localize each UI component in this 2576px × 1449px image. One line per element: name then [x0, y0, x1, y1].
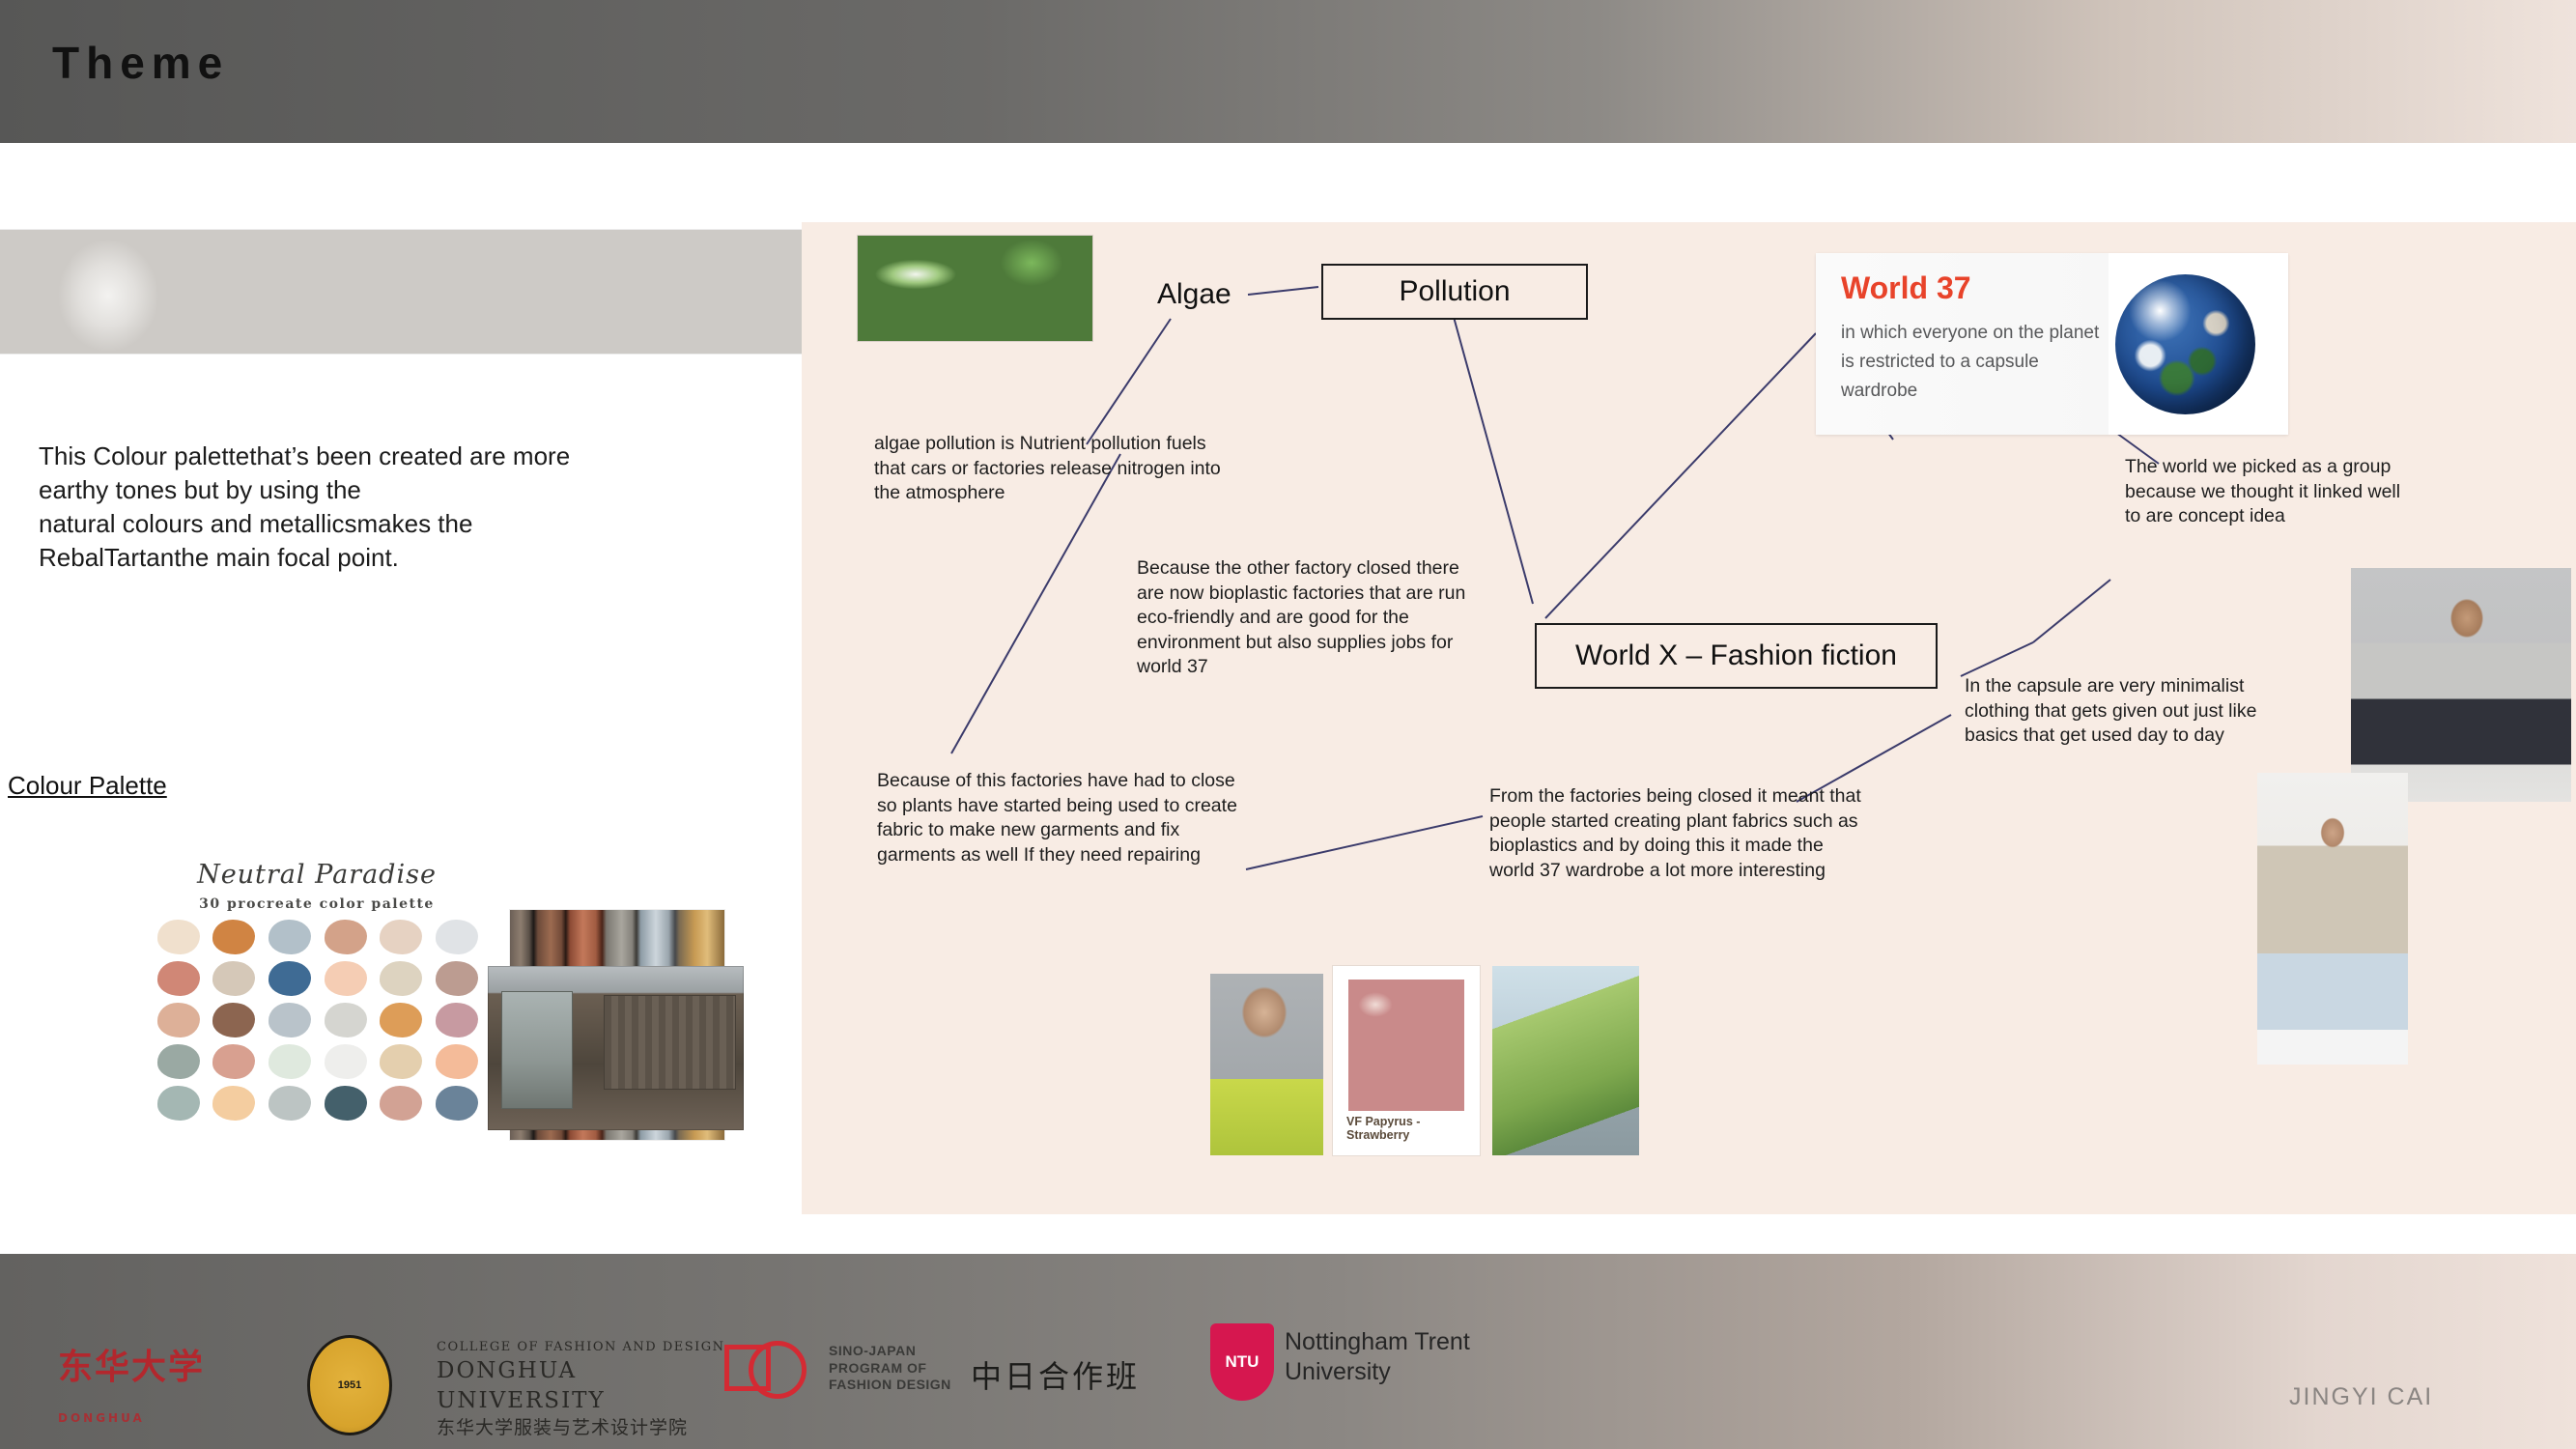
palette-subtitle: 30 procreate color palette	[167, 896, 467, 912]
palette-swatch	[157, 1086, 200, 1121]
papyrus-caption: VF Papyrus - Strawberry	[1346, 1115, 1480, 1142]
palette-swatch	[212, 920, 255, 954]
donghua-logo-en: DONGHUA UNIVERSITY	[58, 1393, 232, 1449]
slide-canvas: Theme This Colour palettethat’s been cre…	[0, 0, 2576, 1449]
sino-line-3: FASHION DESIGN	[829, 1377, 951, 1394]
note-capsule: In the capsule are very minimalist cloth…	[1965, 674, 2312, 749]
sino-japan-cn-text: 中日合作班	[971, 1352, 1140, 1397]
ntu-line-1: Nottingham Trent	[1285, 1327, 1470, 1357]
author-signature: JINGYI CAI	[2289, 1383, 2433, 1411]
palette-swatch	[436, 1086, 478, 1121]
ntu-badge-text: NTU	[1226, 1352, 1260, 1372]
green-fringe-dress-photo	[1210, 974, 1323, 1155]
donghua-university-logo: 东华大学 DONGHUA UNIVERSITY	[58, 1343, 232, 1420]
ntu-shield-icon: NTU	[1210, 1323, 1274, 1401]
theme-paragraph-line-3: natural colours and metallicsmakes the	[39, 507, 773, 541]
palette-swatch	[212, 1003, 255, 1037]
world37-body: in which everyone on the planet is restr…	[1841, 319, 2102, 406]
theme-paragraph-line-2: earthy tones but by using the	[39, 473, 773, 507]
college-line-3: 东华大学服装与艺术设计学院	[437, 1416, 726, 1441]
palette-swatch	[269, 1086, 311, 1121]
sino-japan-circle-icon	[749, 1341, 807, 1399]
donghua-seal-icon: 1951	[307, 1335, 392, 1435]
vf-papyrus-strawberry-photo: VF Papyrus - Strawberry	[1333, 966, 1480, 1155]
world37-title: World 37	[1841, 270, 1971, 306]
palette-swatch	[436, 920, 478, 954]
donghua-seal-year: 1951	[338, 1379, 361, 1391]
minimalist-womenswear-photo	[2257, 773, 2408, 1065]
palette-swatch-grid	[154, 920, 482, 1121]
palette-swatch	[380, 920, 422, 954]
college-line-1: COLLEGE OF FASHION AND DESIGN	[437, 1339, 726, 1356]
algae-bioplastic-sleeve-photo	[1492, 966, 1639, 1155]
palette-swatch	[325, 1086, 367, 1121]
page-title: Theme	[52, 37, 229, 89]
palette-swatch	[380, 961, 422, 996]
palette-swatch	[436, 1044, 478, 1079]
minimalist-menswear-photo	[2351, 568, 2571, 802]
ntu-line-2: University	[1285, 1357, 1470, 1387]
palette-swatch	[380, 1086, 422, 1121]
palette-swatch	[436, 961, 478, 996]
palette-swatch	[212, 1086, 255, 1121]
metallic-spheres-image	[0, 230, 816, 354]
note-world-pick: The world we picked as a group because w…	[2125, 455, 2415, 529]
palette-swatch	[269, 920, 311, 954]
note-bioplastic: Because the other factory closed there a…	[1137, 556, 1489, 680]
header-band	[0, 0, 2576, 143]
palette-swatch	[157, 920, 200, 954]
college-of-fashion-logo: COLLEGE OF FASHION AND DESIGN DONGHUA UN…	[437, 1339, 726, 1440]
colour-palette-heading: Colour Palette	[8, 771, 167, 801]
theme-paragraph-line-4: RebalTartanthe main focal point.	[39, 541, 773, 575]
palette-swatch	[436, 1003, 478, 1037]
palette-swatch	[325, 961, 367, 996]
note-plants: Because of this factories have had to cl…	[877, 769, 1259, 867]
abandoned-factory-photo	[488, 966, 744, 1130]
sino-japan-program-logo: SINO-JAPAN PROGRAM OF FASHION DESIGN	[829, 1343, 951, 1394]
palette-swatch	[269, 1003, 311, 1037]
node-world-x[interactable]: World X – Fashion fiction	[1535, 623, 1938, 689]
sino-line-1: SINO-JAPAN	[829, 1343, 951, 1360]
palette-script-title: Neutral Paradise	[167, 860, 467, 890]
palette-swatch	[157, 1003, 200, 1037]
node-pollution[interactable]: Pollution	[1321, 264, 1588, 320]
sino-line-2: PROGRAM OF	[829, 1360, 951, 1378]
note-plant-fabric: From the factories being closed it meant…	[1489, 784, 1866, 883]
note-algae: algae pollution is Nutrient pollution fu…	[874, 432, 1222, 506]
palette-swatch	[325, 1044, 367, 1079]
papyrus-texture	[1348, 980, 1464, 1111]
label-algae[interactable]: Algae	[1157, 278, 1231, 311]
palette-swatch	[380, 1044, 422, 1079]
algae-pollution-photo	[858, 236, 1092, 341]
theme-paragraph: This Colour palettethat’s been created a…	[39, 440, 773, 575]
theme-paragraph-line-1: This Colour palettethat’s been created a…	[39, 440, 773, 473]
colour-palette-card: Neutral Paradise 30 procreate color pale…	[150, 860, 483, 1159]
earth-globe-icon	[2115, 274, 2255, 414]
college-line-2: DONGHUA UNIVERSITY	[437, 1356, 726, 1416]
palette-swatch	[269, 1044, 311, 1079]
donghua-logo-cn: 东华大学	[58, 1343, 232, 1393]
palette-swatch	[269, 961, 311, 996]
palette-swatch	[212, 961, 255, 996]
ntu-university-logo: Nottingham Trent University	[1285, 1327, 1470, 1388]
palette-swatch	[157, 1044, 200, 1079]
palette-swatch	[157, 961, 200, 996]
world37-callout-card: World 37 in which everyone on the planet…	[1816, 253, 2288, 435]
palette-swatch	[325, 1003, 367, 1037]
palette-swatch	[212, 1044, 255, 1079]
palette-swatch	[325, 920, 367, 954]
palette-swatch	[380, 1003, 422, 1037]
